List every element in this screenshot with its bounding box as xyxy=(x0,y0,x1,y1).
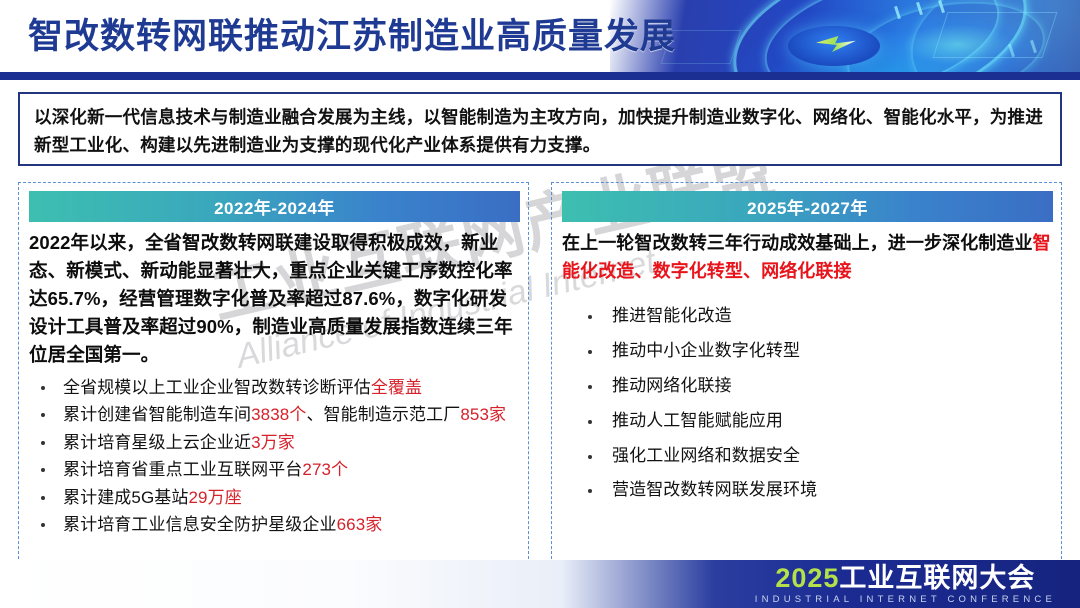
plain-text: 2022年以来，全省智改数转网联建设取得积极成效，新业态、新模式、新动能显著壮大… xyxy=(29,232,513,365)
highlight-text: 3838个 xyxy=(251,405,306,424)
slide-root: 智改数转网联推动江苏制造业高质量发展 工业互联网产业联盟 Alliance of… xyxy=(0,0,1080,608)
highlight-text: 全覆盖 xyxy=(371,378,422,397)
panel-right-header: 2025年-2027年 xyxy=(562,191,1053,222)
highlight-text: 853家 xyxy=(460,405,506,424)
summary-text: 以深化新一代信息技术与制造业融合发展为主线，以智能制造为主攻方向，加快提升制造业… xyxy=(34,103,1046,160)
panel-left-header: 2022年-2024年 xyxy=(29,191,520,222)
panel-right-body: 在上一轮智改数转三年行动成效基础上，进一步深化制造业智能化改造、数字化转型、网络… xyxy=(562,229,1053,567)
list-item: 累计培育工业信息安全防护星级企业663家 xyxy=(29,511,520,539)
list-item: 累计培育星级上云企业近3万家 xyxy=(29,429,520,457)
plain-text: 累计创建省智能制造车间 xyxy=(63,405,251,424)
plain-text: 推动人工智能赋能应用 xyxy=(612,411,783,430)
plain-text: 强化工业网络和数据安全 xyxy=(612,446,800,465)
slide-footer: 2025工业互联网大会 INDUSTRIAL INTERNET CONFEREN… xyxy=(0,560,1080,608)
panel-right-bullet-list: 推进智能化改造推动中小企业数字化转型推动网络化联接推动人工智能赋能应用强化工业网… xyxy=(562,299,1053,508)
plain-text: 推进智能化改造 xyxy=(612,306,732,325)
header-divider xyxy=(0,72,1080,80)
panel-right-lead-paragraph: 在上一轮智改数转三年行动成效基础上，进一步深化制造业智能化改造、数字化转型、网络… xyxy=(562,229,1053,285)
conference-logo-year: 2025 xyxy=(775,563,839,593)
plain-text: 累计培育工业信息安全防护星级企业 xyxy=(63,515,337,534)
plain-text: 营造智改数转网联发展环境 xyxy=(612,480,817,499)
conference-logo-subtitle: INDUSTRIAL INTERNET CONFERENCE xyxy=(755,594,1056,605)
panel-right-header-label: 2025年-2027年 xyxy=(747,194,868,219)
decorative-hub-icon xyxy=(788,26,880,66)
list-item: 推进智能化改造 xyxy=(562,299,1053,334)
panel-period-2025-2027: 2025年-2027年 在上一轮智改数转三年行动成效基础上，进一步深化制造业智能… xyxy=(551,182,1062,574)
list-item: 累计培育省重点工业互联网平台273个 xyxy=(29,456,520,484)
highlight-text: 273个 xyxy=(302,460,348,479)
panel-left-body: 2022年以来，全省智改数转网联建设取得积极成效，新业态、新模式、新动能显著壮大… xyxy=(29,229,520,567)
list-item: 推动人工智能赋能应用 xyxy=(562,404,1053,439)
highlight-text: 663家 xyxy=(337,515,383,534)
panel-period-2022-2024: 2022年-2024年 2022年以来，全省智改数转网联建设取得积极成效，新业态… xyxy=(18,182,529,574)
list-item: 推动中小企业数字化转型 xyxy=(562,334,1053,369)
highlight-text: 29万座 xyxy=(188,488,241,507)
list-item: 累计创建省智能制造车间3838个、智能制造示范工厂853家 xyxy=(29,401,520,429)
conference-logo-main: 2025工业互联网大会 xyxy=(755,564,1056,592)
list-item: 推动网络化联接 xyxy=(562,369,1053,404)
plain-text: 、智能制造示范工厂 xyxy=(306,405,460,424)
plain-text: 累计培育省重点工业互联网平台 xyxy=(63,460,302,479)
panel-left-bullet-list: 全省规模以上工业企业智改数转诊断评估全覆盖累计创建省智能制造车间3838个、智能… xyxy=(29,374,520,539)
plain-text: 推动中小企业数字化转型 xyxy=(612,341,800,360)
list-item: 全省规模以上工业企业智改数转诊断评估全覆盖 xyxy=(29,374,520,402)
highlight-text: 3万家 xyxy=(251,433,295,452)
plain-text: 在上一轮智改数转三年行动成效基础上，进一步深化制造业 xyxy=(562,233,1033,253)
page-title: 智改数转网联推动江苏制造业高质量发展 xyxy=(28,8,676,59)
panel-left-header-label: 2022年-2024年 xyxy=(214,194,335,219)
panel-left-lead-paragraph: 2022年以来，全省智改数转网联建设取得积极成效，新业态、新模式、新动能显著壮大… xyxy=(29,229,520,370)
list-item: 强化工业网络和数据安全 xyxy=(562,439,1053,474)
plain-text: 累计培育星级上云企业近 xyxy=(63,433,251,452)
conference-logo-cn: 工业互联网大会 xyxy=(839,563,1035,593)
header-tech-graphic xyxy=(610,0,1080,72)
list-item: 营造智改数转网联发展环境 xyxy=(562,473,1053,508)
slide-header: 智改数转网联推动江苏制造业高质量发展 xyxy=(0,0,1080,72)
plain-text: 推动网络化联接 xyxy=(612,376,732,395)
summary-box: 以深化新一代信息技术与制造业融合发展为主线，以智能制造为主攻方向，加快提升制造业… xyxy=(18,92,1062,166)
plain-text: 全省规模以上工业企业智改数转诊断评估 xyxy=(63,378,371,397)
decorative-grid-icon xyxy=(933,12,1058,58)
plain-text: 累计建成5G基站 xyxy=(63,488,188,507)
list-item: 累计建成5G基站29万座 xyxy=(29,484,520,512)
conference-logo: 2025工业互联网大会 INDUSTRIAL INTERNET CONFEREN… xyxy=(755,564,1056,605)
